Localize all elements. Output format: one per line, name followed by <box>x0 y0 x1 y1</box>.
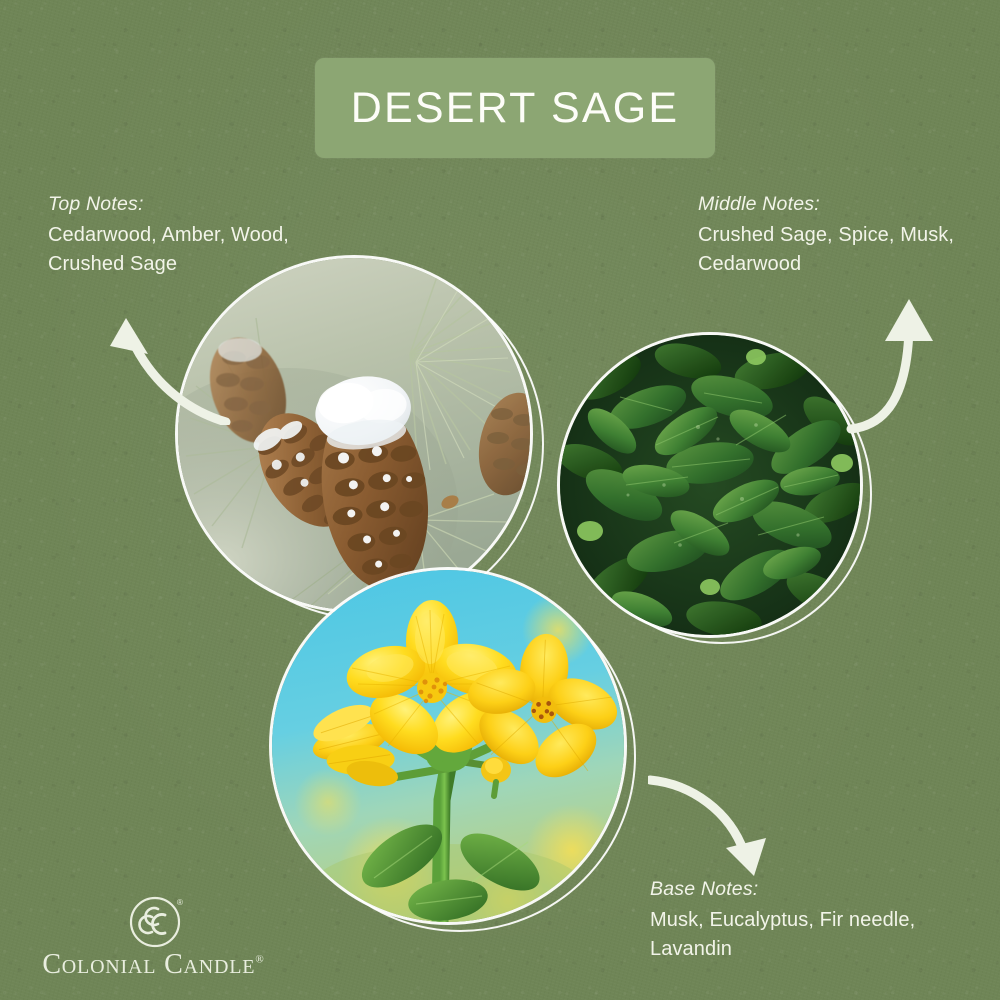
middle-notes-block: Middle Notes: Crushed Sage, Spice, Musk,… <box>698 192 1000 278</box>
middle-notes-label: Middle Notes: <box>698 192 1000 216</box>
colonial-candle-monogram-icon: ® <box>128 893 184 949</box>
svg-text:®: ® <box>177 898 183 907</box>
title-banner: DESERT SAGE <box>315 58 715 158</box>
top-notes-label: Top Notes: <box>48 192 378 216</box>
brand-logo: ® Colonial Candle® <box>28 893 278 978</box>
base-notes-body: Musk, Eucalyptus, Fir needle, Lavandin <box>650 906 980 963</box>
arrow-right-icon <box>845 285 990 435</box>
brand-wordmark: Colonial Candle® <box>28 949 278 981</box>
poster-stage: DESERT SAGE <box>0 0 1000 1000</box>
flower-photo <box>272 570 624 922</box>
brand-name: Colonial Candle <box>42 949 255 980</box>
sage-photo <box>560 335 860 635</box>
middle-notes-body: Crushed Sage, Spice, Musk, Cedarwood <box>698 221 1000 278</box>
arrow-top-left-icon <box>100 300 235 425</box>
registered-mark: ® <box>255 954 263 966</box>
arrow-bottom-icon <box>648 768 788 883</box>
base-notes-block: Base Notes: Musk, Eucalyptus, Fir needle… <box>650 877 980 963</box>
page-title: DESERT SAGE <box>351 84 680 133</box>
